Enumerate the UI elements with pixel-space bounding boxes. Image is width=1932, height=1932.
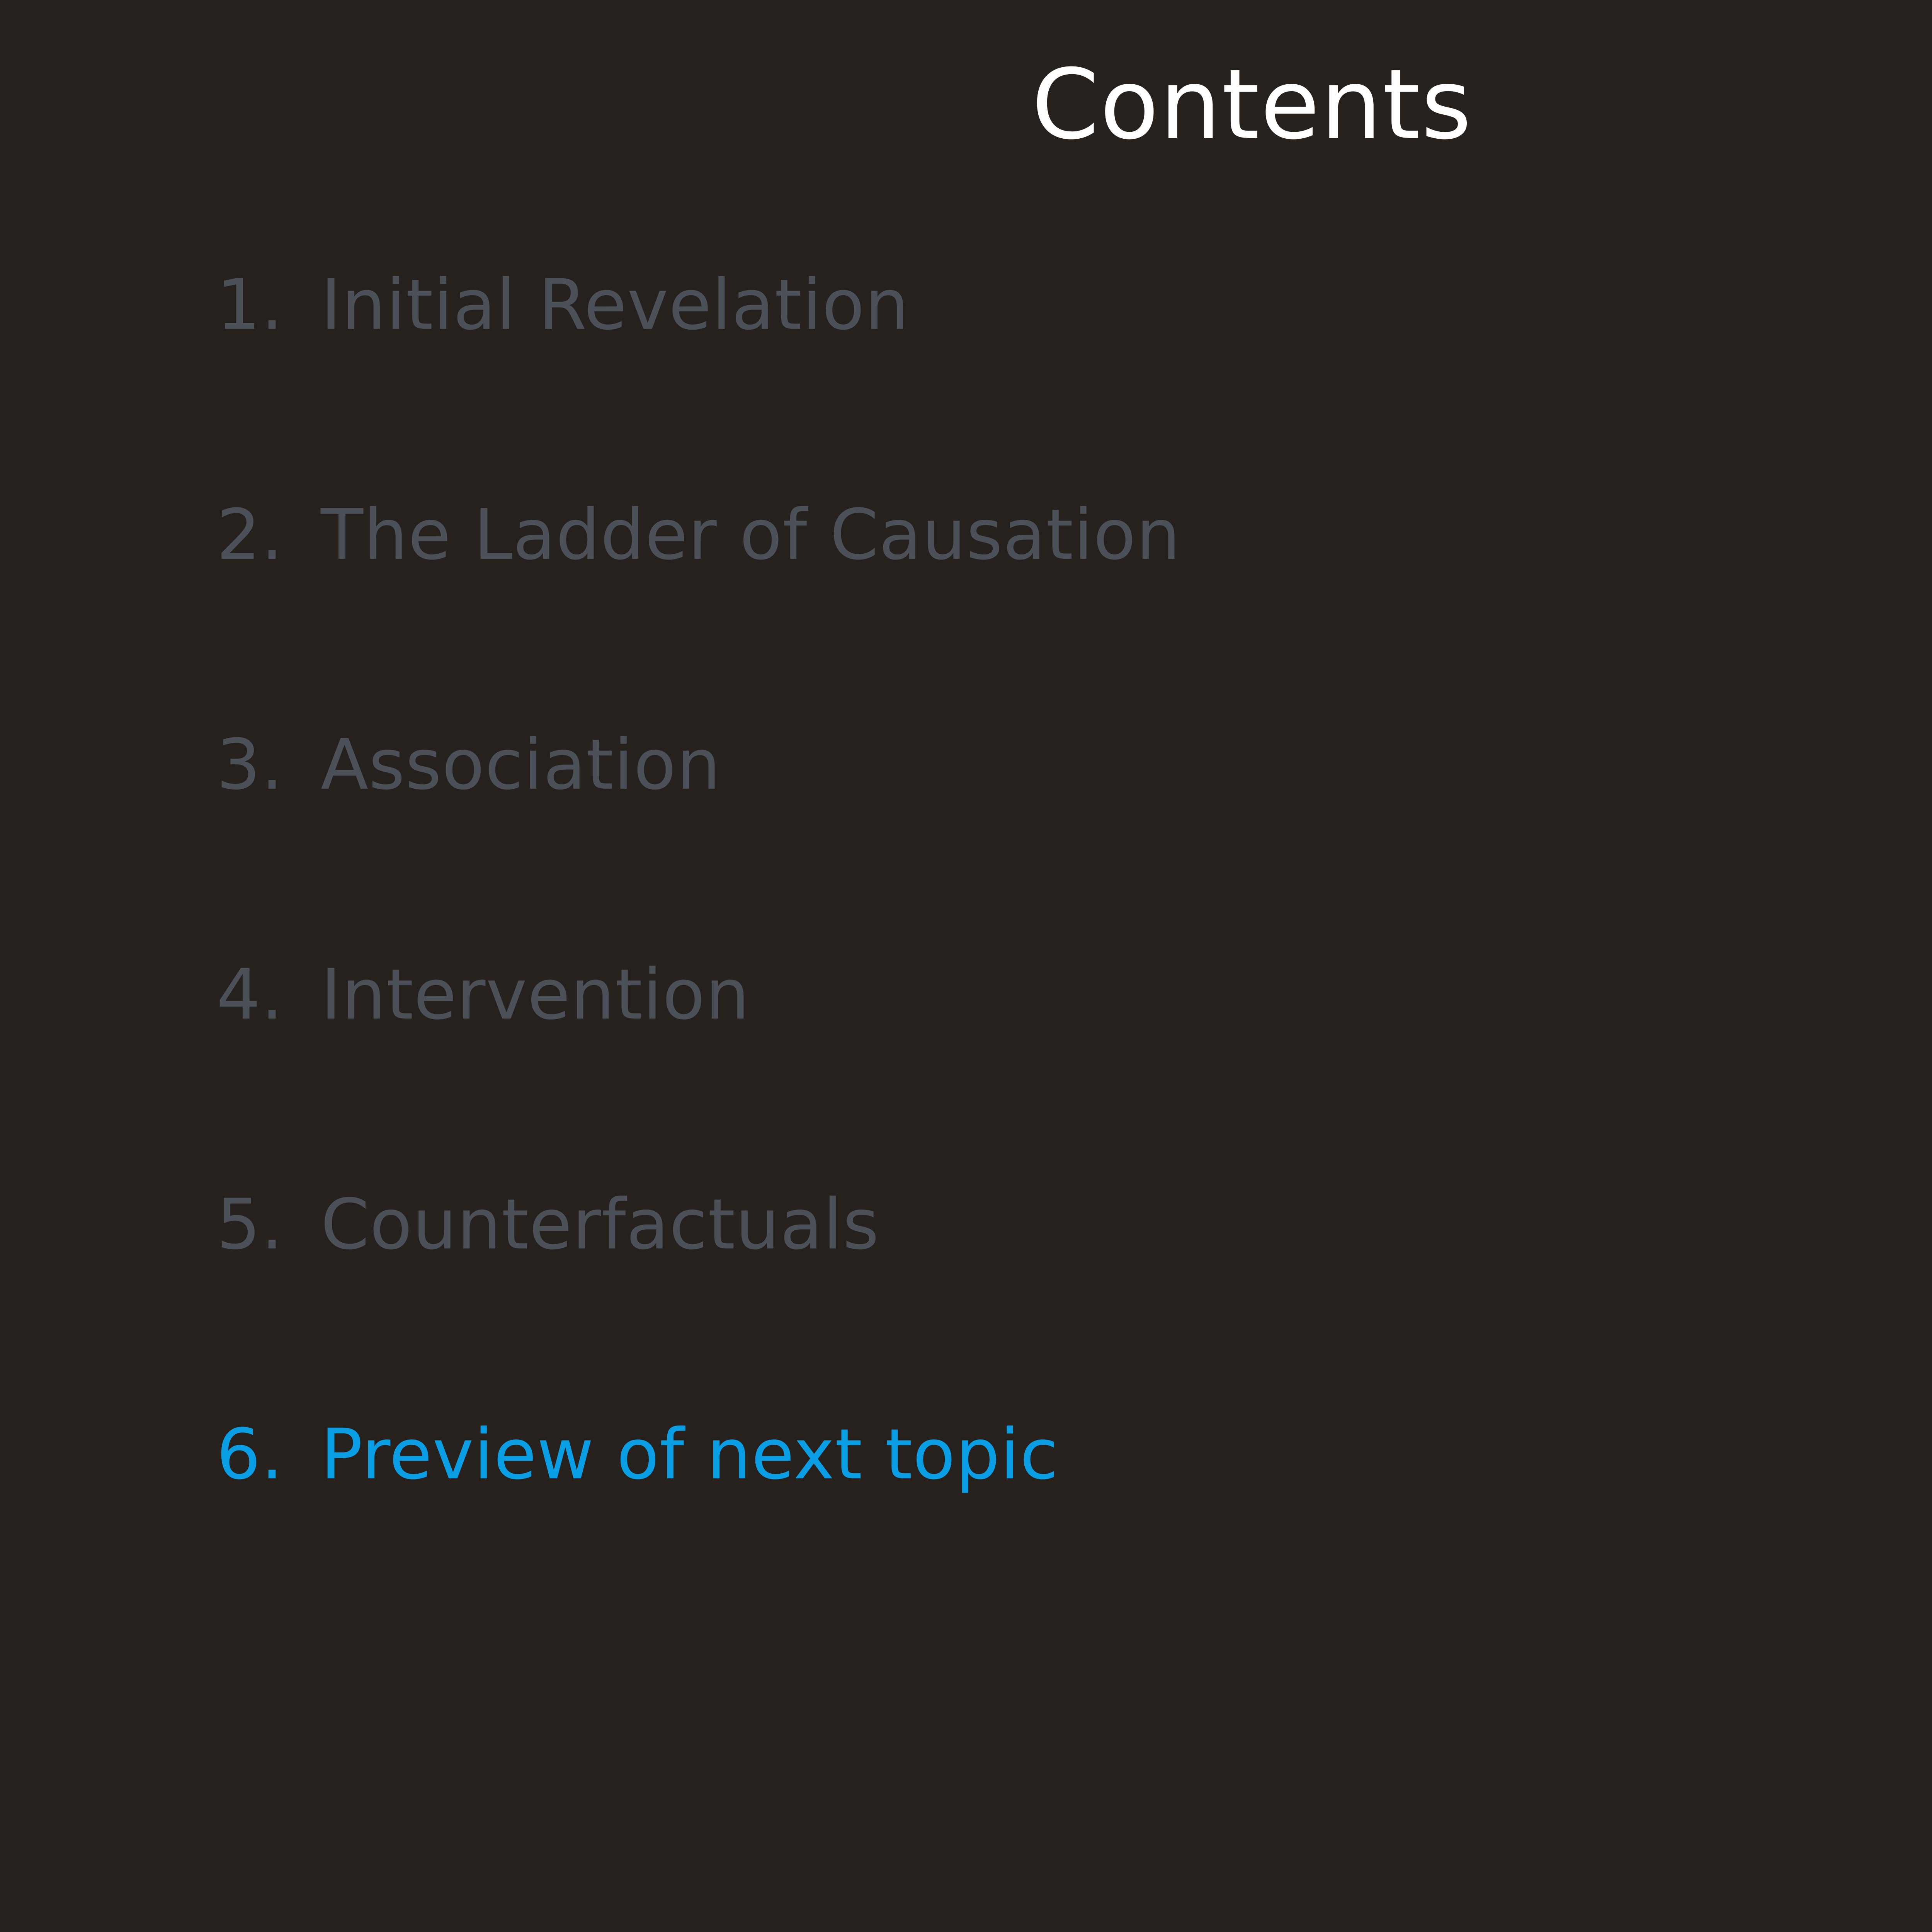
toc-item-label: Intervention [321, 960, 750, 1030]
page-title: Contents [0, 54, 1932, 156]
toc-item-4[interactable]: 4. Intervention [216, 960, 1932, 1190]
toc-item-5[interactable]: 5. Counterfactuals [216, 1190, 1932, 1420]
toc-item-3[interactable]: 3. Association [216, 730, 1932, 960]
toc-item-label: Initial Revelation [321, 270, 909, 340]
toc-item-number: 5. [216, 1190, 321, 1260]
toc-item-label: Association [321, 730, 721, 800]
toc-item-number: 1. [216, 270, 321, 340]
toc-item-label: Counterfactuals [321, 1190, 879, 1260]
toc-item-number: 2. [216, 500, 321, 570]
toc-item-number: 4. [216, 960, 321, 1030]
table-of-contents: 1. Initial Revelation 2. The Ladder of C… [216, 270, 1932, 1650]
toc-item-number: 6. [216, 1420, 321, 1490]
toc-item-label: The Ladder of Causation [321, 500, 1181, 570]
toc-item-number: 3. [216, 730, 321, 800]
toc-item-1[interactable]: 1. Initial Revelation [216, 270, 1932, 500]
toc-item-2[interactable]: 2. The Ladder of Causation [216, 500, 1932, 730]
toc-item-label: Preview of next topic [321, 1420, 1059, 1490]
toc-item-6-current[interactable]: 6. Preview of next topic [216, 1420, 1932, 1650]
slide-canvas: Contents 1. Initial Revelation 2. The La… [0, 0, 1932, 1932]
